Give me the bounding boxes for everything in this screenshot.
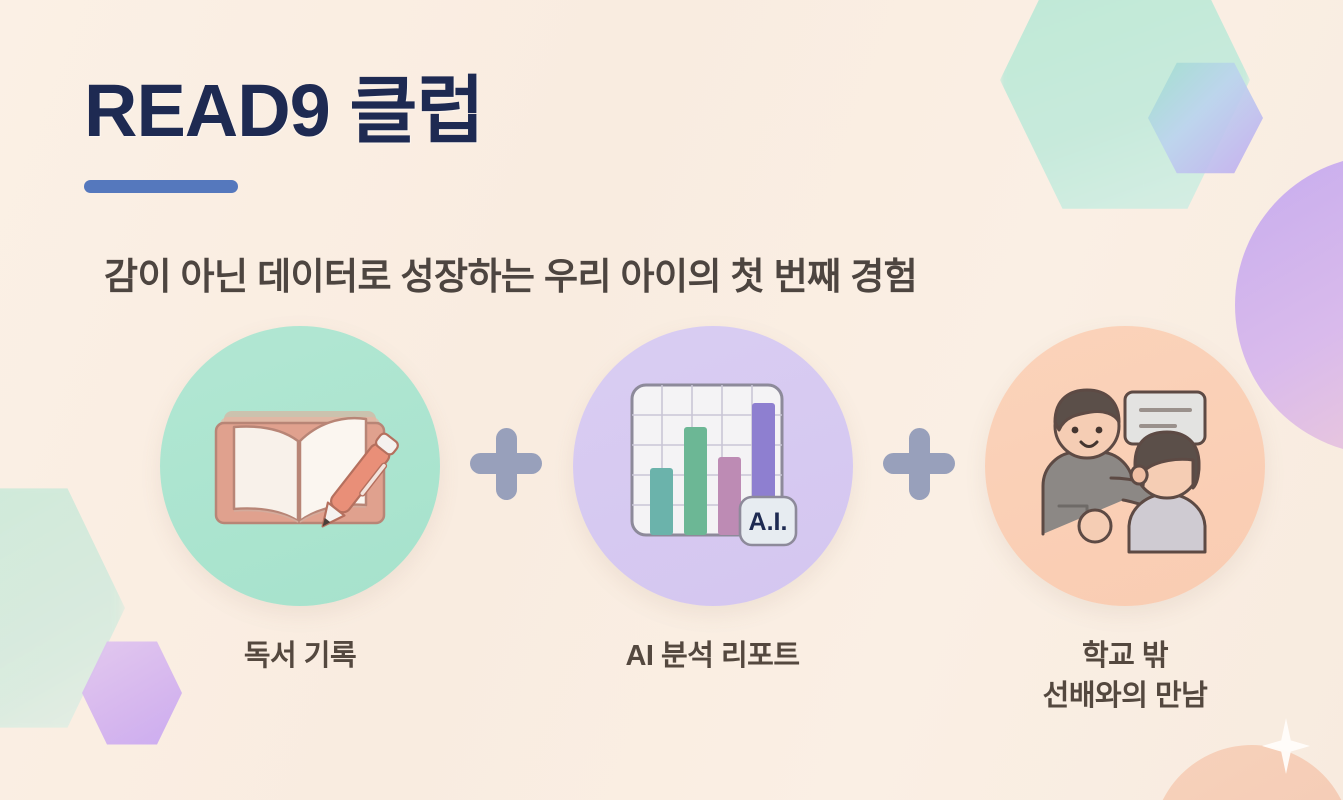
feature-icon-bubble: A.I.	[573, 326, 853, 606]
bar-chart-ai-icon: A.I.	[618, 371, 808, 561]
hexagon-mint-top-right-icon	[1000, 0, 1250, 220]
feature-label-line2: 선배와의 만남	[1043, 680, 1208, 712]
mentor-and-student-icon	[1025, 374, 1225, 559]
feature-ai-report[interactable]: A.I. AI 분석 리포트	[563, 326, 863, 676]
svg-text:A.I.: A.I.	[748, 508, 787, 536]
feature-icon-bubble	[985, 326, 1265, 606]
ai-badge: A.I.	[740, 497, 796, 545]
plus-icon	[468, 426, 544, 502]
feature-row: 독서 기록	[150, 326, 1275, 716]
header: READ9 클럽	[84, 72, 484, 193]
feature-icon-bubble	[160, 326, 440, 606]
sparkle-bottom-right-icon	[1262, 718, 1310, 774]
feature-label-ai-report: AI 분석 리포트	[625, 636, 799, 676]
plus-icon	[881, 426, 957, 502]
circle-peach-bottom-right-icon	[1152, 745, 1343, 800]
feature-label-line1: 학교 밖	[1082, 640, 1168, 672]
feature-reading-record[interactable]: 독서 기록	[150, 326, 450, 676]
page-title: READ9 클럽	[84, 72, 484, 150]
open-book-with-pen-icon	[200, 379, 400, 554]
feature-mentorship[interactable]: 학교 밖 선배와의 만남	[975, 326, 1275, 716]
feature-label-mentorship: 학교 밖 선배와의 만남	[1043, 636, 1208, 716]
hexagon-gradient-top-right-icon	[1148, 58, 1263, 178]
title-accent-bar	[84, 180, 238, 193]
slide-canvas: READ9 클럽 감이 아닌 데이터로 성장하는 우리 아이의 첫 번째 경험	[0, 0, 1343, 800]
feature-label-reading-record: 독서 기록	[244, 636, 356, 676]
page-subtitle: 감이 아닌 데이터로 성장하는 우리 아이의 첫 번째 경험	[104, 246, 917, 300]
hexagon-mint-bottom-left-icon	[0, 478, 125, 738]
